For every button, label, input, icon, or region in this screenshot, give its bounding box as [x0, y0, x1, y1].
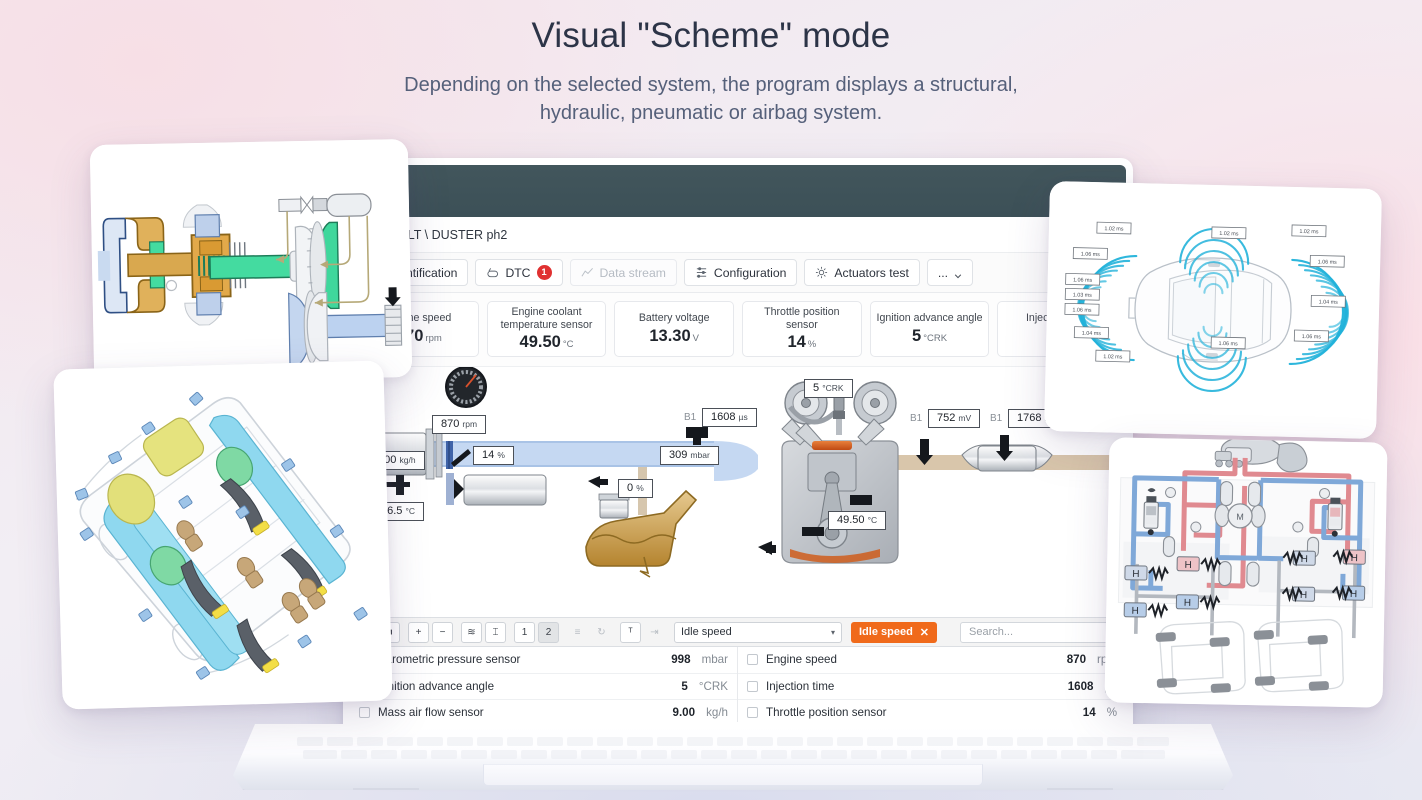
tab-configuration[interactable]: Configuration [684, 259, 798, 286]
sensor-value-label: 1.03 ms [1073, 292, 1093, 298]
engine-speed-tag: 870 rpm [432, 415, 486, 434]
dtc-icon [486, 266, 499, 279]
laptop-screen-bezel: RENAULT \ DUSTER ph2 13. Identification [343, 158, 1133, 730]
tag-unit: mbar [690, 450, 709, 460]
row-checkbox[interactable] [359, 707, 370, 718]
parameter-value: 14 [1083, 706, 1096, 719]
airbag-system-diagram [53, 360, 392, 709]
tab-label: DTC [505, 266, 530, 280]
group-select-value: Idle speed [681, 626, 732, 638]
actuator-icon [815, 266, 828, 279]
filter-button[interactable]: ᵀ [620, 622, 641, 643]
kpi-value: 49.50°C [520, 333, 574, 352]
active-filter-chip[interactable]: Idle speed ✕ [851, 622, 937, 643]
tab-dtc[interactable]: DTC 1 [475, 259, 562, 286]
tag-value: 5 [813, 382, 819, 394]
sensor-value-label: 1.06 ms [1302, 334, 1322, 340]
parking-sensor-diagram: 1.02 ms1.06 ms1.06 ms1.03 ms1.06 ms1.04 … [1044, 181, 1382, 439]
bank-label: B1 [910, 413, 922, 424]
kpi-number: 49.50 [520, 333, 561, 351]
svg-text:H: H [1132, 569, 1139, 580]
throttle-tag: 14 % [473, 446, 514, 465]
parameter-value: 998 [671, 653, 690, 666]
table-column-right: Engine speed 870 rpm Injection time 1608… [738, 647, 1126, 722]
search-input[interactable]: Search... [960, 622, 1121, 643]
tab-bar: Identification DTC 1 Data stream [350, 253, 1126, 293]
purge-valve-tag: 0 % [618, 479, 653, 498]
kpi-card[interactable]: Ignition advance angle 5°CRK [870, 301, 990, 357]
sensor-value-label: 1.06 ms [1073, 277, 1093, 283]
app-window: RENAULT \ DUSTER ph2 13. Identification [350, 165, 1126, 722]
chip-label: Idle speed [859, 626, 913, 638]
svg-text:H: H [1184, 598, 1191, 609]
parameter-name: Throttle position sensor [766, 706, 1075, 719]
sensor-value-label: 1.02 ms [1219, 231, 1239, 237]
kpi-value: 13.30V [649, 327, 699, 346]
page-title: Visual "Scheme" mode [0, 16, 1422, 56]
svg-text:M: M [1236, 512, 1244, 522]
airbag-system-card[interactable] [53, 360, 392, 709]
page-subtitle: Depending on the selected system, the pr… [0, 71, 1422, 127]
kpi-label: Throttle position sensor [747, 306, 857, 331]
tag-unit: °CRK [822, 383, 843, 393]
tag-value: 49.50 [837, 514, 865, 526]
tag-unit: % [497, 450, 505, 460]
subtitle-line-2: hydraulic, pneumatic or airbag system. [540, 102, 882, 124]
tag-value: 1768 [1017, 412, 1041, 424]
sensor-value-label: 1.06 ms [1219, 341, 1239, 347]
injection-time-tag: 1608 µs [702, 408, 757, 427]
table-row[interactable]: Injection time 1608 µs [738, 674, 1126, 701]
tab-data-stream[interactable]: Data stream [570, 259, 677, 286]
breadcrumb-bar: RENAULT \ DUSTER ph2 13. [350, 217, 1126, 253]
search-placeholder: Search... [969, 626, 1013, 638]
sensor-value-label: 1.06 ms [1318, 259, 1338, 265]
bank-label: B1 [684, 412, 696, 423]
kpi-label: Battery voltage [639, 312, 710, 324]
laptop-keyboard-base [233, 724, 1233, 790]
sensor-value-label: 1.02 ms [1103, 354, 1123, 360]
laptop-foot [353, 788, 419, 794]
sensor-value-label: 1.02 ms [1299, 229, 1319, 235]
laptop-foot [1047, 788, 1113, 794]
tag-value: 14 [482, 449, 494, 461]
parameter-unit: kg/h [706, 706, 728, 719]
add-button[interactable]: + [408, 622, 429, 643]
sensor-value-label: 1.02 ms [1104, 226, 1124, 232]
chevron-down-icon [954, 269, 962, 277]
parameter-value: 9.00 [673, 706, 696, 719]
table-column-left: Barometric pressure sensor 998 mbar Igni… [350, 647, 738, 722]
parameter-unit: mbar [702, 653, 728, 666]
row-checkbox[interactable] [747, 654, 758, 665]
tag-value: 309 [669, 449, 687, 461]
tag-unit: kg/h [399, 455, 415, 465]
hero-section: Visual "Scheme" mode Depending on the se… [0, 16, 1422, 127]
close-icon[interactable]: ✕ [920, 626, 929, 639]
sensor-value-label: 1.04 ms [1319, 299, 1339, 305]
page-1-button[interactable]: 1 [514, 622, 535, 643]
kpi-value: 5°CRK [912, 327, 947, 346]
kpi-label: Ignition advance angle [877, 312, 983, 324]
coolant-temp-tag: 49.50 °C [828, 511, 886, 530]
table-row[interactable]: Engine speed 870 rpm [738, 647, 1126, 674]
sensor-value-label: 1.04 ms [1082, 331, 1102, 337]
smooth-button[interactable]: ≋ [461, 622, 482, 643]
abs-hydraulic-card[interactable]: M [1104, 437, 1387, 707]
parameter-value: 5 [681, 680, 687, 693]
parameter-value: 870 [1067, 653, 1086, 666]
kpi-unit: °CRK [923, 333, 947, 344]
kpi-number: 5 [912, 327, 921, 345]
bank-label: B1 [990, 413, 1002, 424]
svg-text:H: H [1184, 560, 1191, 571]
kpi-row: Engine speed 870rpm Engine coolant tempe… [350, 293, 1126, 367]
tab-more[interactable]: ... [927, 259, 973, 286]
sliders-icon [695, 266, 708, 279]
group-select[interactable]: Idle speed ▾ [674, 622, 842, 643]
table-row[interactable]: Ignition advance angle 5 °CRK [350, 674, 737, 701]
map-tag: 309 mbar [660, 446, 719, 465]
data-stream-toolbar: ❙❙ ■ + − ≋ ⌶ 1 2 ≡ ↻ ᵀ ⇥ Idle speed ▾ Id… [350, 617, 1126, 647]
kpi-card[interactable]: Throttle position sensor 14% [742, 301, 862, 357]
cvt-transmission-card[interactable] [90, 139, 413, 383]
kpi-card[interactable]: Battery voltage 13.30V [614, 301, 734, 357]
parameter-name: Engine speed [766, 653, 1059, 666]
page-2-button[interactable]: 2 [538, 622, 559, 643]
tag-value: 870 [441, 418, 459, 430]
svg-text:H: H [1132, 606, 1139, 617]
tab-label: ... [938, 266, 948, 280]
row-checkbox[interactable] [747, 681, 758, 692]
tag-value: 752 [937, 412, 955, 424]
tag-unit: rpm [462, 419, 477, 429]
tab-label: Actuators test [834, 266, 909, 280]
sensor-value-label: 1.06 ms [1081, 252, 1101, 258]
export-button[interactable]: ⇥ [644, 622, 665, 643]
app-titlebar [350, 165, 1126, 217]
parameter-unit: % [1107, 706, 1117, 719]
table-row[interactable]: Throttle position sensor 14 % [738, 700, 1126, 722]
remove-button[interactable]: − [432, 622, 453, 643]
tag-value: 0 [627, 482, 633, 494]
parameter-value: 1608 [1068, 680, 1094, 693]
tag-unit: % [636, 483, 644, 493]
keyboard-keys [293, 736, 1173, 762]
parking-sensor-card[interactable]: 1.02 ms1.06 ms1.06 ms1.03 ms1.06 ms1.04 … [1044, 181, 1382, 439]
kpi-value: 14% [787, 333, 816, 352]
row-checkbox[interactable] [747, 707, 758, 718]
status-badge: 1 [537, 265, 552, 280]
kpi-number: 13.30 [649, 327, 690, 345]
tag-unit: mV [958, 413, 971, 423]
tab-label: Configuration [714, 266, 787, 280]
table-row[interactable]: Mass air flow sensor 9.00 kg/h [350, 700, 737, 722]
refresh-button[interactable]: ↻ [591, 622, 612, 643]
chart-line-icon [581, 266, 594, 279]
tag-unit: °C [868, 515, 878, 525]
table-row[interactable]: Barometric pressure sensor 998 mbar [350, 647, 737, 674]
kpi-number: 14 [787, 333, 805, 351]
tag-unit: °C [405, 506, 415, 516]
tag-unit: µs [739, 412, 748, 422]
chevron-down-icon: ▾ [831, 628, 835, 637]
sensor-value-label: 1.06 ms [1072, 307, 1092, 313]
breadcrumb[interactable]: RENAULT \ DUSTER ph2 [364, 228, 1074, 242]
laptop-trackpad [483, 764, 983, 786]
abs-hydraulic-diagram: M [1104, 437, 1387, 707]
tab-actuators-test[interactable]: Actuators test [804, 259, 920, 286]
o2-upstream-tag: 752 mV [928, 409, 980, 428]
list-button[interactable]: ≡ [567, 622, 588, 643]
data-stream-table: Barometric pressure sensor 998 mbar Igni… [350, 647, 1126, 722]
tab-label: Data stream [600, 266, 666, 280]
subtitle-line-1: Depending on the selected system, the pr… [404, 74, 1018, 96]
parameter-unit: °CRK [699, 680, 728, 693]
parameter-name: Injection time [766, 680, 1060, 693]
ignition-tag: 5 °CRK [804, 379, 853, 398]
scheme-graphic [350, 367, 1126, 617]
kpi-unit: V [693, 333, 699, 344]
tag-value: 1608 [711, 411, 735, 423]
kpi-unit: rpm [425, 333, 441, 344]
parameter-name: Ignition advance angle [378, 680, 673, 693]
parameter-name: Barometric pressure sensor [378, 653, 663, 666]
kpi-label: Engine coolant temperature sensor [492, 306, 602, 331]
scheme-diagram[interactable]: 870 rpm 9.00 kg/h 16.5 °C 14 % 309 mbar … [350, 367, 1126, 617]
parameter-name: Mass air flow sensor [378, 706, 665, 719]
cvt-transmission-diagram [90, 139, 413, 383]
kpi-unit: °C [563, 339, 574, 350]
text-cursor-button[interactable]: ⌶ [485, 622, 506, 643]
kpi-unit: % [808, 339, 816, 350]
kpi-card[interactable]: Engine coolant temperature sensor 49.50°… [487, 301, 607, 357]
